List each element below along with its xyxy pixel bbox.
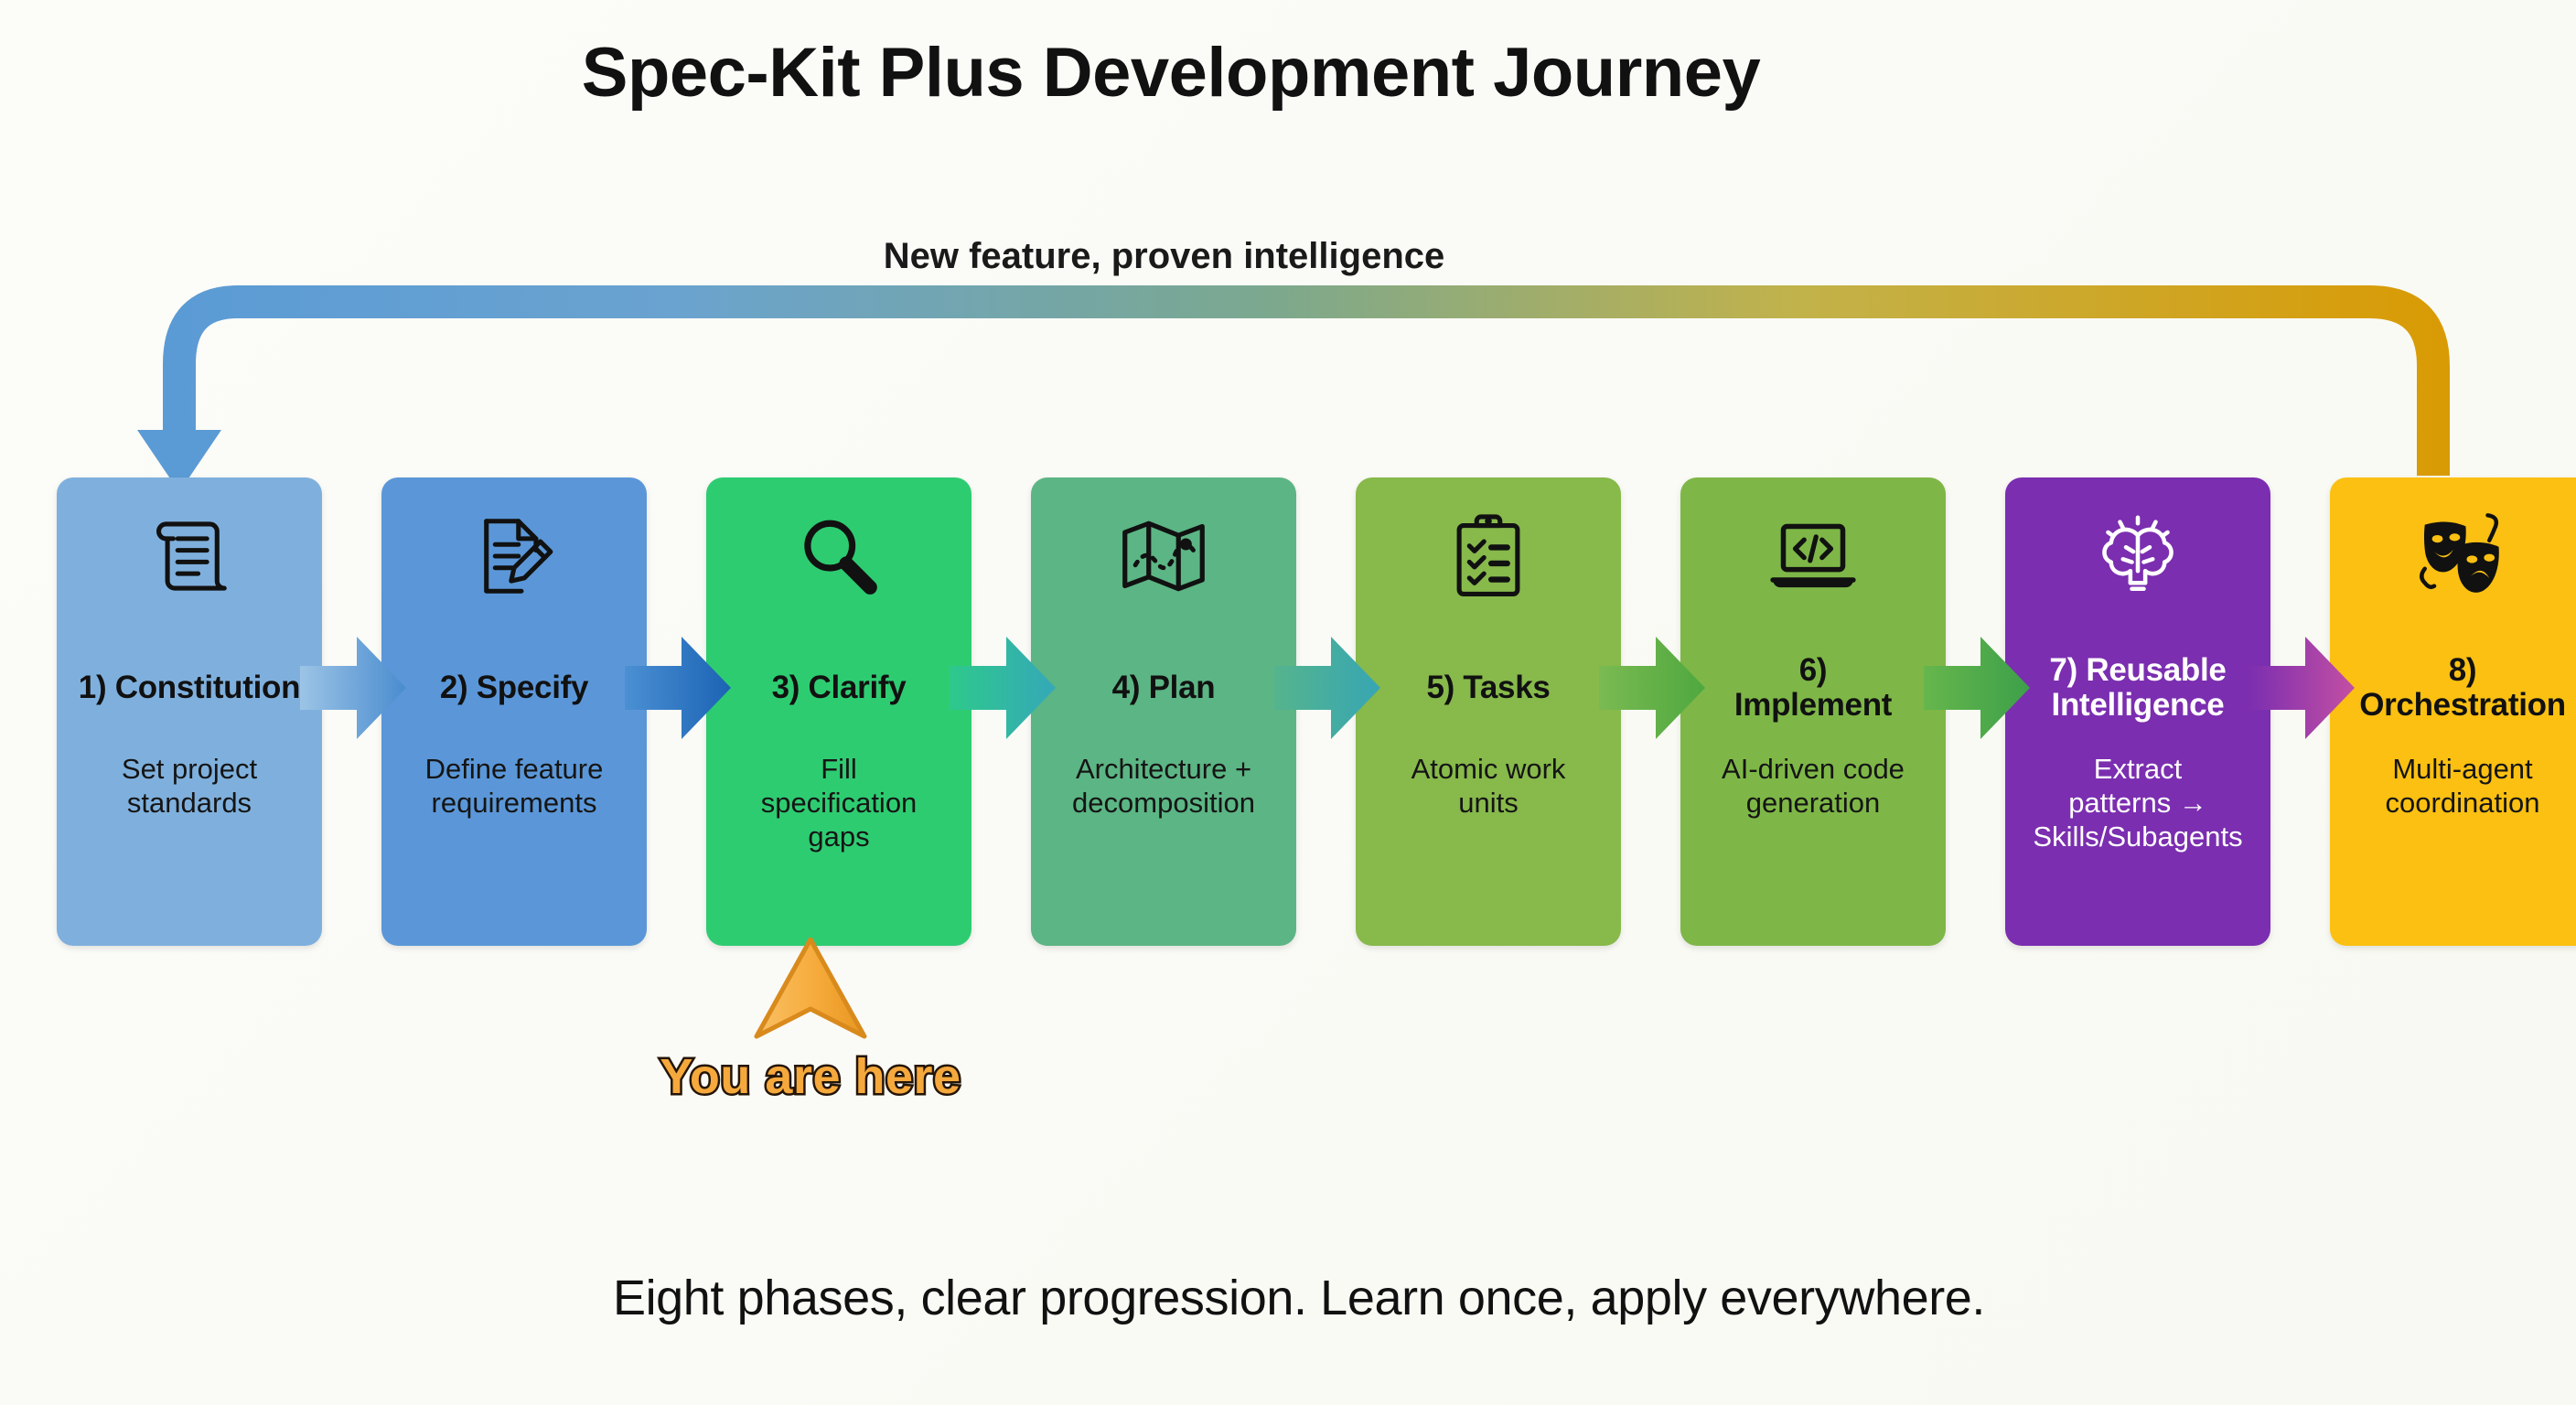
phase-desc: Define feature requirements [392,752,636,820]
footer-caption: Eight phases, clear progression. Learn o… [0,1270,2576,1326]
phase-card-tasks[interactable]: 5) Tasks Atomic work units [1356,477,1621,946]
phase-desc: Set project standards [68,752,311,820]
phase-card-reusable-intelligence[interactable]: 7) Reusable Intelligence Extract pattern… [2005,477,2270,946]
phase-desc: Multi-agent coordination [2341,752,2576,820]
map-icon [1112,505,1215,607]
phase-title: 4) Plan [1036,640,1291,735]
phase-desc: Atomic work units [1367,752,1610,820]
phase-title: 6) Implement [1686,640,1940,735]
you-are-here-marker: You are here [582,938,1039,1105]
phase-title: 2) Specify [387,640,641,735]
phase-title: 1) Constitution [62,640,317,735]
phase-desc: Fill specification gaps [717,752,961,854]
phase-title: 3) Clarify [712,640,966,735]
brain-idea-icon [2087,505,2189,607]
phase-desc: AI-driven code generation [1691,752,1935,820]
phase-row: 1) Constitution Set project standards [57,477,2527,946]
scroll-icon [138,505,241,607]
phase-card-implement[interactable]: 6) Implement AI-driven code generation [1680,477,1946,946]
phase-title: 5) Tasks [1361,640,1615,735]
theater-masks-icon [2411,505,2514,607]
phase-card-plan[interactable]: 4) Plan Architecture + decomposition [1031,477,1296,946]
page-title: Spec-Kit Plus Development Journey [0,33,2342,113]
clipboard-check-icon [1437,505,1540,607]
you-are-here-label: You are here [582,1048,1039,1105]
phase-card-clarify[interactable]: 3) Clarify Fill specification gaps [706,477,971,946]
location-pointer-icon [582,938,1039,1043]
phase-title: 8) Orchestration [2335,640,2576,735]
laptop-code-icon [1762,505,1864,607]
diagram-canvas: Spec-Kit Plus Development Journey New fe… [0,0,2576,1405]
phase-card-orchestration[interactable]: 8) Orchestration Multi-agent coordinatio… [2330,477,2576,946]
phase-title: 7) Reusable Intelligence [2011,640,2265,735]
phase-card-constitution[interactable]: 1) Constitution Set project standards [57,477,322,946]
document-pencil-icon [463,505,565,607]
loopback-label: New feature, proven intelligence [0,236,2328,277]
phase-card-specify[interactable]: 2) Specify Define feature requirements [381,477,647,946]
phase-desc: Extract patterns → Skills/Subagents [2016,752,2259,854]
phase-desc: Architecture + decomposition [1042,752,1285,820]
magnifier-icon [788,505,890,607]
